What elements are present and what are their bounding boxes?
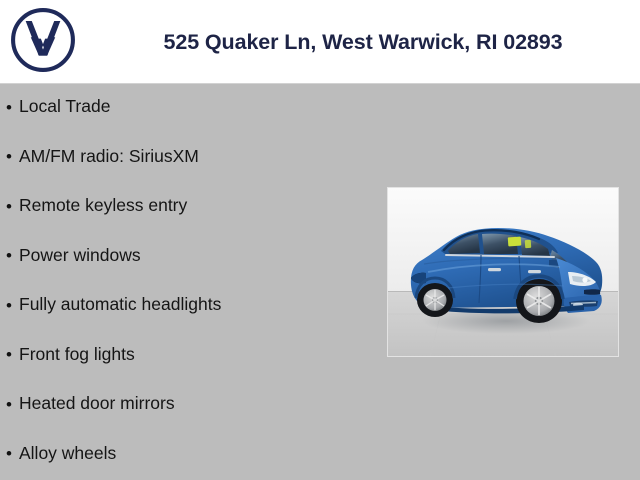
dealership-address: 525 Quaker Ln, West Warwick, RI 02893 (90, 0, 636, 84)
bullet-icon: • (6, 297, 19, 314)
header-divider (0, 83, 640, 84)
bullet-icon: • (6, 148, 19, 165)
list-item: • Power windows (6, 244, 141, 268)
bullet-icon: • (6, 198, 19, 215)
list-item: • Heated door mirrors (6, 392, 175, 416)
bullet-icon: • (6, 396, 19, 413)
vehicle-photo (387, 187, 619, 357)
feature-label: Local Trade (19, 98, 110, 116)
slide-canvas: 525 Quaker Ln, West Warwick, RI 02893 • … (0, 0, 640, 480)
feature-label: Alloy wheels (19, 445, 116, 463)
list-item: • Fully automatic headlights (6, 293, 221, 317)
list-item: • Remote keyless entry (6, 194, 187, 218)
feature-label: Front fog lights (19, 346, 135, 364)
header-bar: 525 Quaker Ln, West Warwick, RI 02893 (0, 0, 640, 84)
bullet-icon: • (6, 99, 19, 116)
list-item: • Front fog lights (6, 343, 135, 367)
list-item: • Local Trade (6, 95, 110, 119)
bullet-icon: • (6, 247, 19, 264)
bullet-icon: • (6, 445, 19, 462)
list-item: • AM/FM radio: SiriusXM (6, 145, 199, 169)
feature-label: Heated door mirrors (19, 395, 175, 413)
feature-label: AM/FM radio: SiriusXM (19, 148, 199, 166)
feature-label: Fully automatic headlights (19, 296, 221, 314)
volkswagen-logo-icon (9, 6, 77, 74)
feature-label: Remote keyless entry (19, 197, 187, 215)
feature-label: Power windows (19, 247, 141, 265)
bullet-icon: • (6, 346, 19, 363)
list-item: • Alloy wheels (6, 442, 116, 466)
